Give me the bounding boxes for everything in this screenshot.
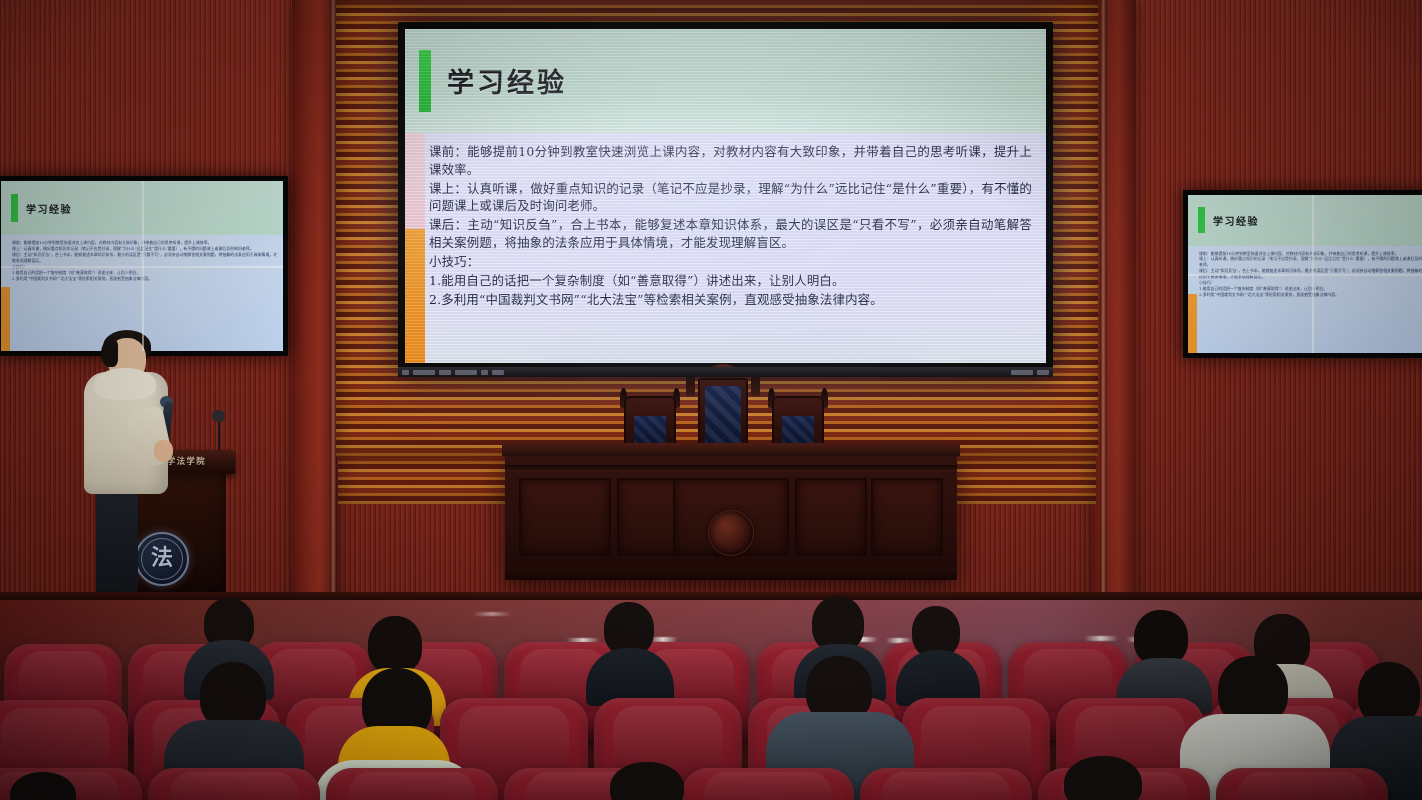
presentation-slide: 学习经验 课前：能够提前10分钟到教室快速浏览上课内容，对教材内容有大致印象，并…	[405, 29, 1046, 363]
bench-base	[505, 567, 957, 580]
presenter-hood	[94, 368, 156, 400]
slide-paragraph: 课上：认真听课，做好重点知识的记录（笔记不应是抄录，理解“为什么”远比记住“是什…	[429, 180, 1032, 216]
audience-member	[904, 606, 970, 696]
taskbar-item-icon[interactable]	[492, 370, 504, 375]
right-monitor-paragraph: 2.多利用“中国裁判文书网”“北大法宝”等检索相关案例，直观感受抽象法律内容。	[1199, 292, 1422, 298]
taskbar-item-icon[interactable]	[413, 370, 435, 375]
left-monitor-slide: 学习经验 课前：能够提前10分钟到教室快速浏览上课内容，对教材内容有大致印象，并…	[1, 181, 283, 351]
bench-panel	[871, 478, 943, 556]
left-lcd-video-wall[interactable]: 学习经验 课前：能够提前10分钟到教室快速浏览上课内容，对教材内容有大致印象，并…	[0, 176, 288, 356]
right-lcd-video-wall[interactable]: 学习经验 课前：能够提前10分钟到教室快速浏览上课内容，对教材内容有大致印象，并…	[1183, 190, 1422, 358]
audience-member	[0, 772, 90, 800]
slide-paragraph: 2.多利用“中国裁判文书网”“北大法宝”等检索相关案例，直观感受抽象法律内容。	[429, 291, 1032, 309]
right-monitor-accent-bar	[1198, 207, 1205, 233]
left-monitor-paragraph: 课后：主动“知识反刍”，合上书本，能够复述本章知识体系，最大的误区是“只看不写”…	[12, 252, 277, 264]
right-monitor-orange-accent	[1188, 294, 1197, 353]
bench-panel	[795, 478, 867, 556]
audience-member	[1044, 756, 1160, 800]
slide-title: 学习经验	[447, 61, 567, 100]
slide-title-accent-bar	[419, 50, 431, 112]
microphone-stand	[218, 418, 220, 452]
taskbar-clock[interactable]	[1037, 370, 1049, 375]
presenter-hand	[154, 440, 173, 462]
judge-bench	[505, 452, 957, 580]
bench-rail	[505, 465, 957, 472]
bench-panel	[519, 478, 611, 556]
auditorium-seat[interactable]	[326, 768, 498, 800]
student-presenter	[76, 330, 181, 620]
chair-cushion	[705, 386, 741, 448]
main-projection-screen[interactable]: 学习经验 课前：能够提前10分钟到教室快速浏览上课内容，对教材内容有大致印象，并…	[398, 22, 1053, 377]
taskbar-start-icon[interactable]	[402, 370, 409, 375]
microphone-icon	[212, 410, 225, 422]
slide-paragraph: 小技巧：	[429, 253, 1032, 271]
right-monitor-slide-header: 学习经验	[1188, 195, 1422, 246]
presentation-taskbar[interactable]	[398, 367, 1053, 377]
taskbar-item-icon[interactable]	[439, 370, 451, 375]
taskbar-item-icon[interactable]	[455, 370, 477, 375]
left-monitor-orange-accent	[1, 287, 10, 351]
presenter-hair-side	[101, 340, 118, 367]
person-head	[610, 762, 684, 800]
right-monitor-paragraph: 课上：认真听课，做好重点知识的记录（笔记不应是抄录，理解“为什么”远比记住“是什…	[1199, 256, 1422, 268]
right-monitor-seam-horizontal	[1188, 274, 1422, 276]
left-monitor-accent-bar	[11, 194, 18, 222]
audience-seating	[0, 596, 1422, 800]
wall-pilaster-right	[1092, 0, 1136, 620]
left-monitor-seam-horizontal	[1, 266, 283, 268]
person-head	[1064, 756, 1142, 800]
right-monitor-slide-body: 课前：能够提前10分钟到教室快速浏览上课内容，对教材内容有大致印象，并带着自己的…	[1188, 246, 1422, 353]
left-monitor-slide-title: 学习经验	[26, 201, 72, 216]
left-monitor-paragraph: 2.多利用“中国裁判文书网”“北大法宝”等检索相关案例，直观感受抽象法律内容。	[12, 276, 277, 282]
person-head	[10, 772, 76, 800]
court-emblem-icon	[708, 510, 754, 556]
slide-body-area: 课前：能够提前10分钟到教室快速浏览上课内容，对教材内容有大致印象，并带着自己的…	[405, 133, 1046, 363]
slide-paragraph: 课前：能够提前10分钟到教室快速浏览上课内容，对教材内容有大致印象，并带着自己的…	[429, 143, 1032, 179]
bench-desktop	[502, 443, 960, 456]
right-monitor-slide: 学习经验 课前：能够提前10分钟到教室快速浏览上课内容，对教材内容有大致印象，并…	[1188, 195, 1422, 353]
chair-cushion	[782, 416, 814, 446]
slide-header: 学习经验	[405, 29, 1046, 133]
right-monitor-slide-title: 学习经验	[1213, 213, 1259, 228]
wall-seam-right	[1100, 0, 1107, 620]
lecture-hall-scene: 学习经验 课前：能够提前10分钟到教室快速浏览上课内容，对教材内容有大致印象，并…	[0, 0, 1422, 800]
auditorium-seat[interactable]	[148, 768, 320, 800]
person-head	[368, 616, 422, 674]
chair-cushion	[634, 416, 666, 446]
auditorium-seat[interactable]	[682, 768, 854, 800]
presenter-legs	[96, 490, 138, 598]
slide-paragraph: 1.能用自己的话把一个复杂制度（如“善意取得”）讲述出来，让别人明白。	[429, 272, 1032, 290]
auditorium-seat[interactable]	[1216, 768, 1388, 800]
auditorium-seat[interactable]	[860, 768, 1032, 800]
audience-member	[594, 602, 664, 694]
audience-member	[592, 762, 702, 800]
slide-paragraph: 课后：主动“知识反刍”，合上书本，能够复述本章知识体系，最大的误区是“只看不写”…	[429, 216, 1032, 252]
taskbar-item-icon[interactable]	[481, 370, 488, 375]
taskbar-tray-icon[interactable]	[1011, 370, 1033, 375]
slide-body-text: 课前：能够提前10分钟到教室快速浏览上课内容，对教材内容有大致印象，并带着自己的…	[405, 133, 1046, 315]
